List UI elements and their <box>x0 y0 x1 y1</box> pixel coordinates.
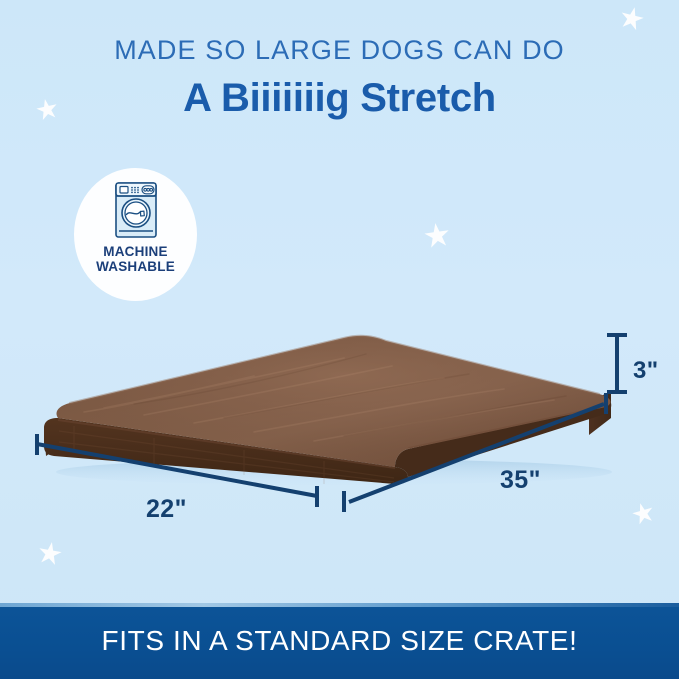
height-dimension-label: 3" <box>633 357 659 385</box>
bottom-banner: FITS IN A STANDARD SIZE CRATE! <box>0 603 679 679</box>
star-icon <box>629 499 656 526</box>
badge-line-1: MACHINE <box>96 244 175 259</box>
page-title: A Biiiiiiig Stretch <box>0 76 679 120</box>
star-icon <box>422 220 451 249</box>
washing-machine-icon <box>112 181 160 239</box>
machine-washable-badge: MACHINE WASHABLE <box>74 168 197 301</box>
star-icon <box>617 3 646 32</box>
banner-top-sheen <box>0 603 679 607</box>
machine-washable-label: MACHINE WASHABLE <box>96 244 175 274</box>
infographic-canvas: MADE SO LARGE DOGS CAN DO A Biiiiiiig St… <box>0 0 679 679</box>
headline-eyebrow: MADE SO LARGE DOGS CAN DO <box>0 36 679 66</box>
headline-block: MADE SO LARGE DOGS CAN DO A Biiiiiiig St… <box>0 36 679 120</box>
badge-line-2: WASHABLE <box>96 259 175 274</box>
star-icon <box>36 539 64 567</box>
length-dimension-label: 35" <box>500 466 541 495</box>
banner-label: FITS IN A STANDARD SIZE CRATE! <box>102 625 578 657</box>
width-dimension-label: 22" <box>146 495 187 524</box>
